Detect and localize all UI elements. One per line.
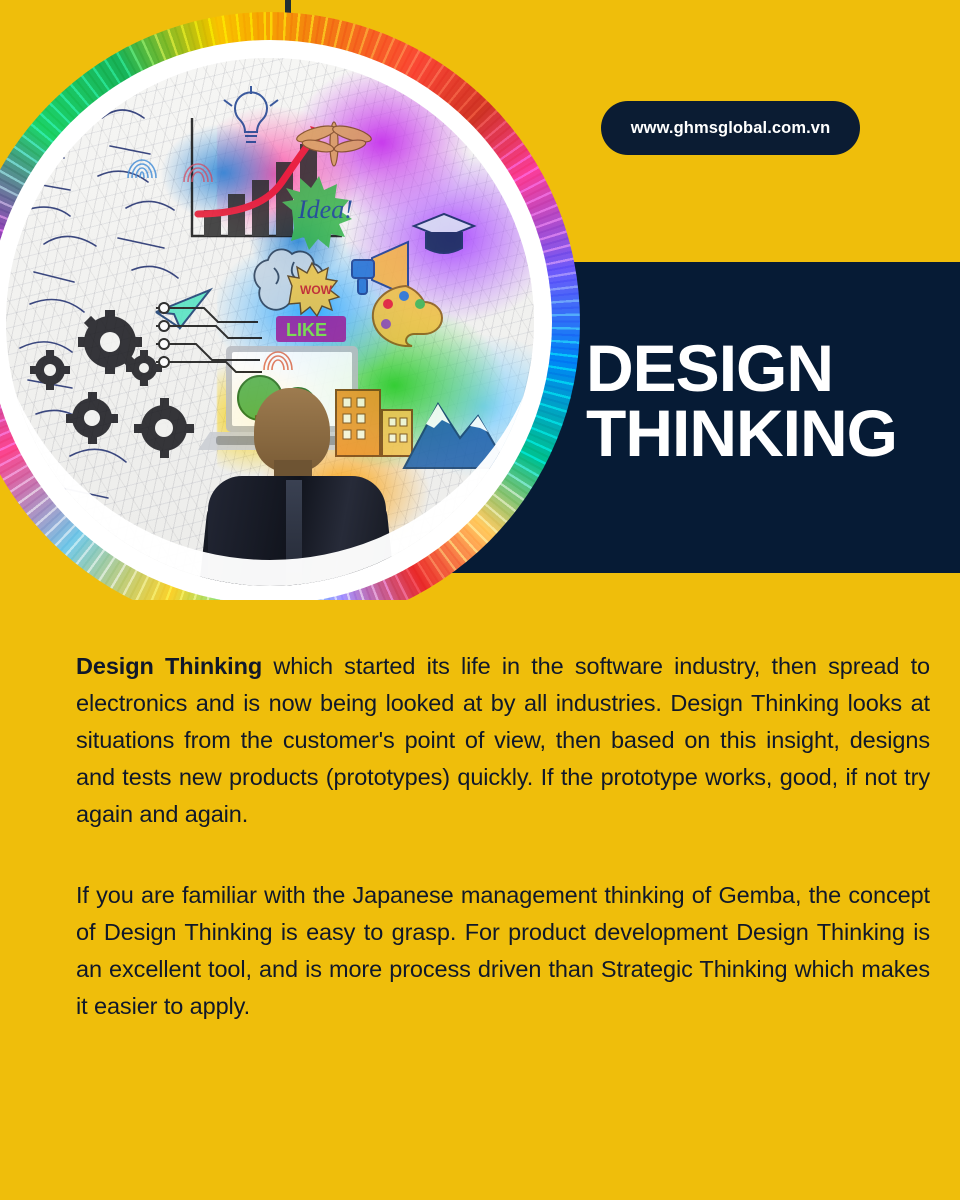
paragraph-2-text: If you are familiar with the Japanese ma…: [76, 882, 930, 1019]
collage-disc: Idea!: [6, 58, 534, 586]
blue-splashes: [154, 100, 386, 343]
businessman-figure: [202, 388, 392, 586]
paragraph-1-lead: Design Thinking: [76, 653, 262, 679]
page-title: DESIGN THINKING: [586, 336, 946, 465]
hero-circle-image: Idea!: [0, 12, 580, 600]
article-body: Design Thinking which started its life i…: [76, 648, 930, 1025]
title-line-2: THINKING: [586, 401, 946, 466]
website-url-pill[interactable]: www.ghmsglobal.com.vn: [601, 101, 860, 155]
title-line-1: DESIGN: [586, 331, 833, 405]
suit-lapel: [286, 480, 302, 586]
paragraph-1-text: which started its life in the software i…: [76, 653, 930, 827]
poster-root: Idea!: [0, 0, 960, 1200]
website-url-label: www.ghmsglobal.com.vn: [631, 119, 831, 138]
paragraph-2: If you are familiar with the Japanese ma…: [76, 877, 930, 1025]
hero-section: Idea!: [0, 0, 960, 600]
paragraph-1: Design Thinking which started its life i…: [76, 648, 930, 833]
